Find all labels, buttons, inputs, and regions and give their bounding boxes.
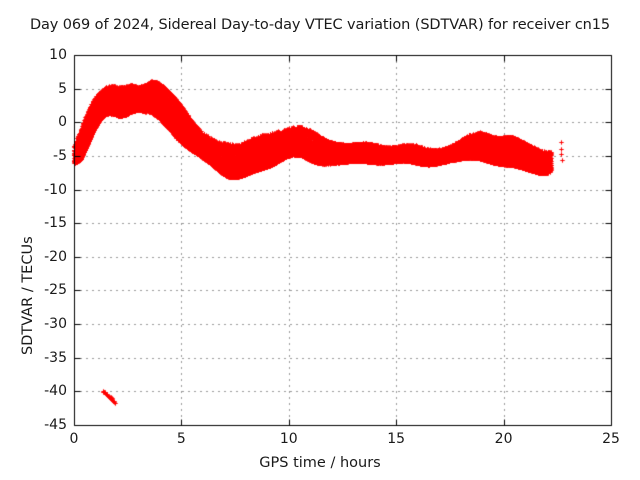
chart-figure: Day 069 of 2024, Sidereal Day-to-day VTE… bbox=[0, 0, 640, 480]
x-tick-label: 0 bbox=[70, 431, 79, 447]
x-tick-label: 20 bbox=[495, 431, 513, 447]
y-tick-label: -15 bbox=[44, 215, 67, 231]
x-tick-label: 25 bbox=[602, 431, 620, 447]
y-tick-label: -25 bbox=[44, 282, 67, 298]
y-tick-label: -35 bbox=[44, 350, 67, 366]
plot-area bbox=[0, 0, 640, 480]
y-tick-label: -5 bbox=[53, 148, 67, 164]
x-axis-label: GPS time / hours bbox=[0, 455, 640, 471]
y-tick-label: -45 bbox=[44, 417, 67, 433]
y-tick-label: 0 bbox=[58, 114, 67, 130]
x-tick-label: 5 bbox=[177, 431, 186, 447]
y-axis-label: SDTVAR / TECUs bbox=[20, 236, 36, 355]
y-tick-label: -40 bbox=[44, 383, 67, 399]
y-tick-label: 10 bbox=[49, 47, 67, 63]
y-tick-label: -30 bbox=[44, 316, 67, 332]
y-tick-label: -10 bbox=[44, 182, 67, 198]
x-tick-label: 10 bbox=[280, 431, 298, 447]
y-tick-label: 5 bbox=[58, 81, 67, 97]
x-tick-label: 15 bbox=[387, 431, 405, 447]
y-tick-label: -20 bbox=[44, 249, 67, 265]
